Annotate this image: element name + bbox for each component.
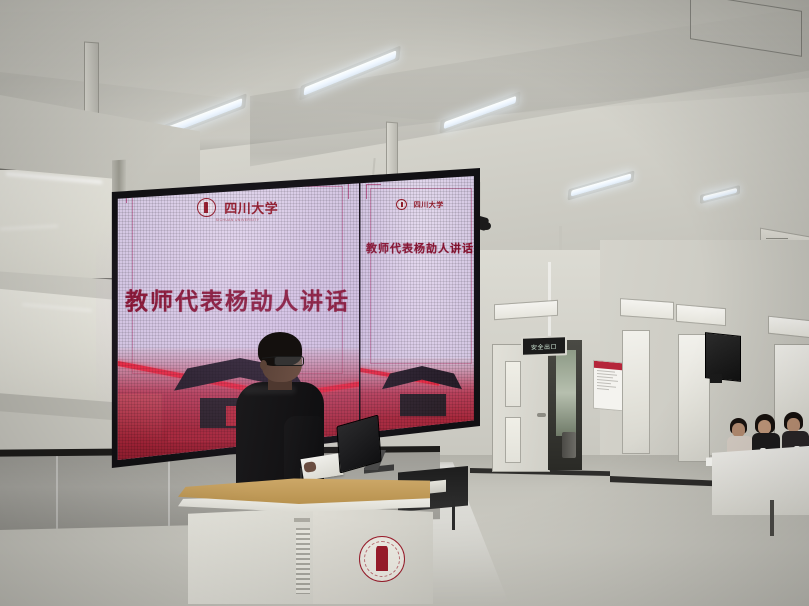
slide-title-secondary: 教师代表杨劼人讲话: [360, 240, 474, 256]
panel-seam-2: [168, 452, 170, 530]
whiteboard-lower[interactable]: [0, 286, 118, 404]
pavilion-body-secondary: [400, 394, 446, 418]
confidence-monitor[interactable]: [338, 420, 390, 472]
audience-person-1-head: [732, 423, 745, 437]
sichuan-university-logo-secondary: 四川大学: [360, 196, 474, 214]
wall-speaker-mount: [710, 374, 722, 383]
rack-leg-right: [452, 496, 455, 530]
foliage-left: [116, 394, 162, 446]
door-lite-upper: [505, 361, 521, 407]
corridor-view: [556, 350, 576, 436]
whiteboard-upper[interactable]: [0, 168, 120, 280]
door-lite-lower: [505, 417, 521, 463]
university-name-cn: 四川大学: [224, 198, 278, 217]
notice-line-5: [597, 382, 611, 384]
audience-table-leg: [770, 500, 774, 536]
door-transom-right: [620, 298, 674, 320]
notice-header-band: [594, 361, 622, 370]
whiteboard-glare-1: [6, 172, 102, 184]
door-handle[interactable]: [537, 413, 546, 417]
sichuan-university-logo: 四川大学 SICHUAN UNIVERSITY: [116, 198, 359, 222]
classroom-door[interactable]: [492, 344, 550, 472]
lectern: [178, 478, 430, 606]
lectern-vent-slots: [296, 528, 310, 594]
university-seal-icon-secondary: [396, 199, 407, 210]
trash-bin: [562, 432, 576, 458]
window-pane-left: [622, 330, 650, 454]
audience-table: [712, 446, 809, 515]
wall-notice-poster: [593, 360, 623, 412]
slide-title: 教师代表杨劼人讲话: [116, 282, 359, 316]
exit-sign-label: 安全出口: [531, 341, 557, 351]
university-name-en: SICHUAN UNIVERSITY: [116, 218, 359, 222]
whiteboard-glare-2: [0, 224, 58, 230]
seal-ring: [364, 541, 400, 577]
speaker-at-podium: [222, 330, 332, 490]
lecture-hall-photo: 四川大学 SICHUAN UNIVERSITY 教师代表杨劼人讲话 四川大学: [0, 0, 809, 606]
video-wall-panel-seam: [359, 176, 361, 460]
notice-line-3: [597, 376, 613, 378]
lectern-body-left: [188, 508, 313, 604]
slide-panel-secondary: 四川大学 教师代表杨劼人讲话: [360, 176, 474, 450]
ceiling-camera-lens-icon: [482, 222, 491, 230]
glasses-icon: [274, 356, 304, 366]
slide-inner-border-2: [370, 188, 472, 364]
audience-person-2-head: [758, 420, 771, 434]
lectern-label-plate: [294, 518, 310, 522]
exit-sign: 安全出口: [521, 335, 567, 357]
panel-seam-1: [56, 452, 58, 530]
notice-line-1: [597, 370, 615, 373]
university-name-cn-secondary: 四川大学: [414, 200, 444, 210]
speaker-ear: [260, 360, 267, 370]
whiteboard-glare-3: [22, 303, 92, 312]
university-seal-icon: [197, 198, 216, 217]
sichuan-university-seal: [359, 536, 405, 582]
audience-person-3-head: [787, 418, 800, 432]
notice-line-7: [597, 388, 609, 390]
